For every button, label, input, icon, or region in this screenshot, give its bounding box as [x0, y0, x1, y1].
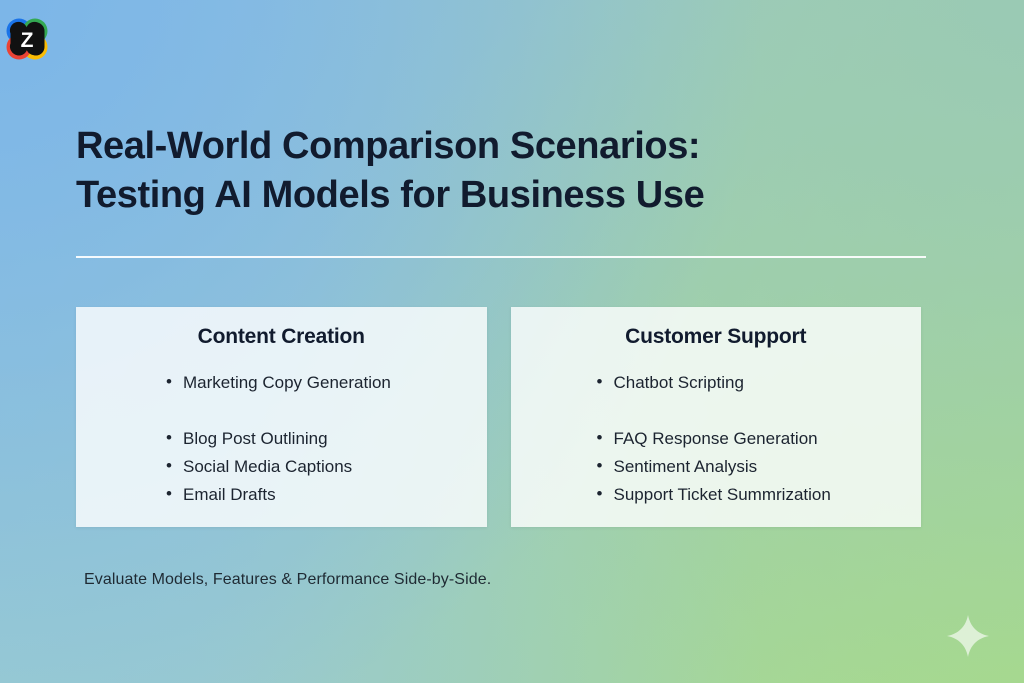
list-item: Chatbot Scripting	[597, 369, 922, 397]
logo-letter: Z	[21, 29, 34, 52]
card-list-content-creation: Marketing Copy Generation Blog Post Outl…	[76, 369, 487, 509]
scenario-cards: Content Creation Marketing Copy Generati…	[76, 307, 921, 527]
card-list-customer-support: Chatbot Scripting FAQ Response Generatio…	[511, 369, 922, 509]
page-title-line-2: Testing AI Models for Business Use	[76, 171, 946, 220]
brand-logo: Z	[4, 16, 50, 62]
footer-caption: Evaluate Models, Features & Performance …	[84, 571, 491, 589]
list-item: Email Drafts	[166, 481, 487, 509]
card-customer-support: Customer Support Chatbot Scripting FAQ R…	[511, 307, 922, 527]
list-item: Sentiment Analysis	[597, 453, 922, 481]
slide-canvas: Z Real-World Comparison Scenarios: Testi…	[0, 0, 1024, 683]
page-title: Real-World Comparison Scenarios: Testing…	[76, 122, 946, 220]
zigpoll-quatrefoil-logo-icon: Z	[7, 19, 48, 60]
card-content-creation: Content Creation Marketing Copy Generati…	[76, 307, 487, 527]
list-item: Social Media Captions	[166, 453, 487, 481]
sparkle-four-point-star-icon	[947, 615, 989, 657]
card-title-content-creation: Content Creation	[76, 325, 487, 349]
list-item: Blog Post Outlining	[166, 425, 487, 453]
list-item: FAQ Response Generation	[597, 425, 922, 453]
list-item: Support Ticket Summrization	[597, 481, 922, 509]
list-item: Marketing Copy Generation	[166, 369, 487, 397]
title-divider	[76, 256, 926, 258]
sparkle-decoration	[945, 613, 991, 659]
card-title-customer-support: Customer Support	[511, 325, 922, 349]
page-title-line-1: Real-World Comparison Scenarios:	[76, 122, 946, 171]
